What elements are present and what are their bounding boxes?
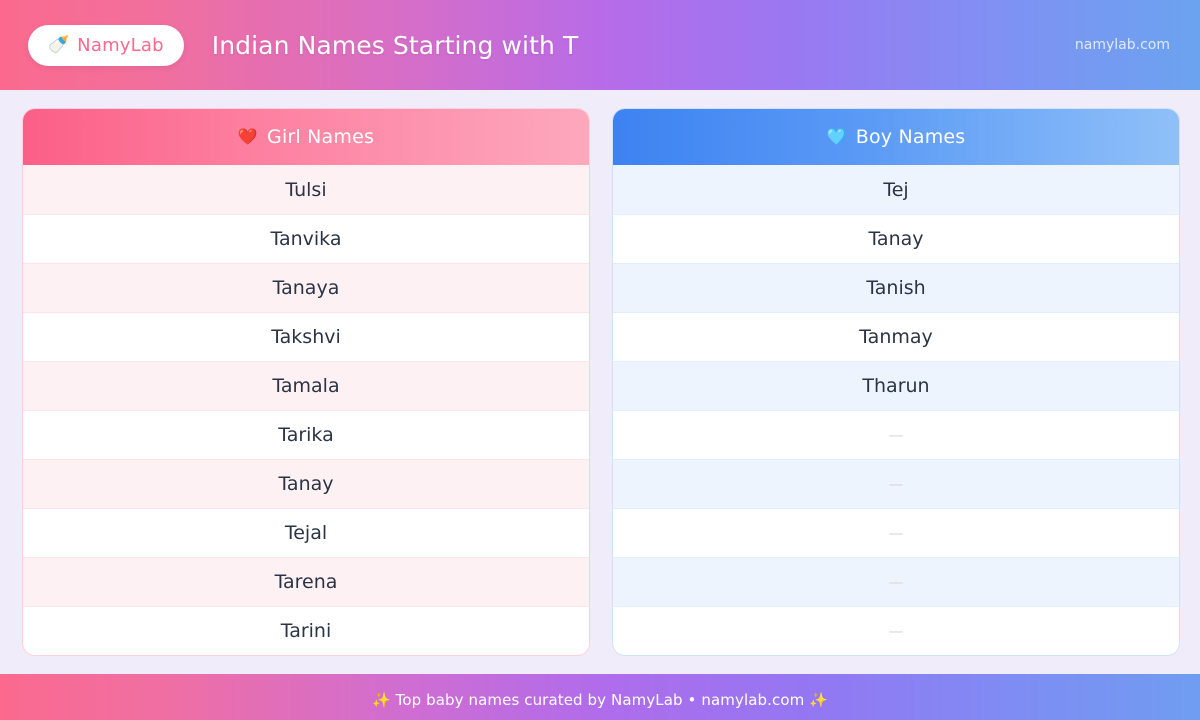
- list-item[interactable]: Tamala: [23, 361, 589, 410]
- girl-names-header: ❤️ Girl Names: [23, 109, 589, 165]
- boy-names-header: 🩵 Boy Names: [613, 109, 1179, 165]
- page-header: 🍼 NamyLab Indian Names Starting with T n…: [0, 0, 1200, 90]
- girl-names-title: Girl Names: [267, 126, 374, 148]
- blue-heart-icon: 🩵: [827, 129, 847, 145]
- list-item[interactable]: Tanay: [23, 459, 589, 508]
- girl-names-list: Tulsi Tanvika Tanaya Takshvi Tamala Tari…: [23, 165, 589, 655]
- list-item[interactable]: Tarika: [23, 410, 589, 459]
- list-item[interactable]: Tej: [613, 165, 1179, 214]
- footer-text: ✨ Top baby names curated by NamyLab • na…: [372, 691, 828, 709]
- list-item[interactable]: Tejal: [23, 508, 589, 557]
- cards-container: ❤️ Girl Names Tulsi Tanvika Tanaya Taksh…: [0, 90, 1200, 656]
- page-title: Indian Names Starting with T: [212, 31, 579, 60]
- brand-pill[interactable]: 🍼 NamyLab: [28, 25, 184, 66]
- boy-names-card: 🩵 Boy Names Tej Tanay Tanish Tanmay Thar…: [612, 108, 1180, 656]
- page-root: 🍼 NamyLab Indian Names Starting with T n…: [0, 0, 1200, 720]
- list-item[interactable]: Tanay: [613, 214, 1179, 263]
- list-item-empty: —: [613, 459, 1179, 508]
- list-item[interactable]: Tanaya: [23, 263, 589, 312]
- boy-names-title: Boy Names: [856, 126, 966, 148]
- list-item[interactable]: Tanmay: [613, 312, 1179, 361]
- list-item-empty: —: [613, 508, 1179, 557]
- list-item-empty: —: [613, 557, 1179, 606]
- baby-bottle-icon: 🍼: [48, 37, 69, 54]
- list-item[interactable]: Tanvika: [23, 214, 589, 263]
- heart-icon: ❤️: [238, 129, 258, 145]
- boy-names-list: Tej Tanay Tanish Tanmay Tharun — — — — —: [613, 165, 1179, 655]
- list-item[interactable]: Tharun: [613, 361, 1179, 410]
- list-item-empty: —: [613, 410, 1179, 459]
- list-item[interactable]: Takshvi: [23, 312, 589, 361]
- brand-label: NamyLab: [77, 35, 164, 56]
- list-item[interactable]: Tarini: [23, 606, 589, 655]
- girl-names-card: ❤️ Girl Names Tulsi Tanvika Tanaya Taksh…: [22, 108, 590, 656]
- site-url: namylab.com: [1075, 37, 1170, 53]
- page-footer: ✨ Top baby names curated by NamyLab • na…: [0, 674, 1200, 720]
- list-item-empty: —: [613, 606, 1179, 655]
- list-item[interactable]: Tanish: [613, 263, 1179, 312]
- list-item[interactable]: Tarena: [23, 557, 589, 606]
- list-item[interactable]: Tulsi: [23, 165, 589, 214]
